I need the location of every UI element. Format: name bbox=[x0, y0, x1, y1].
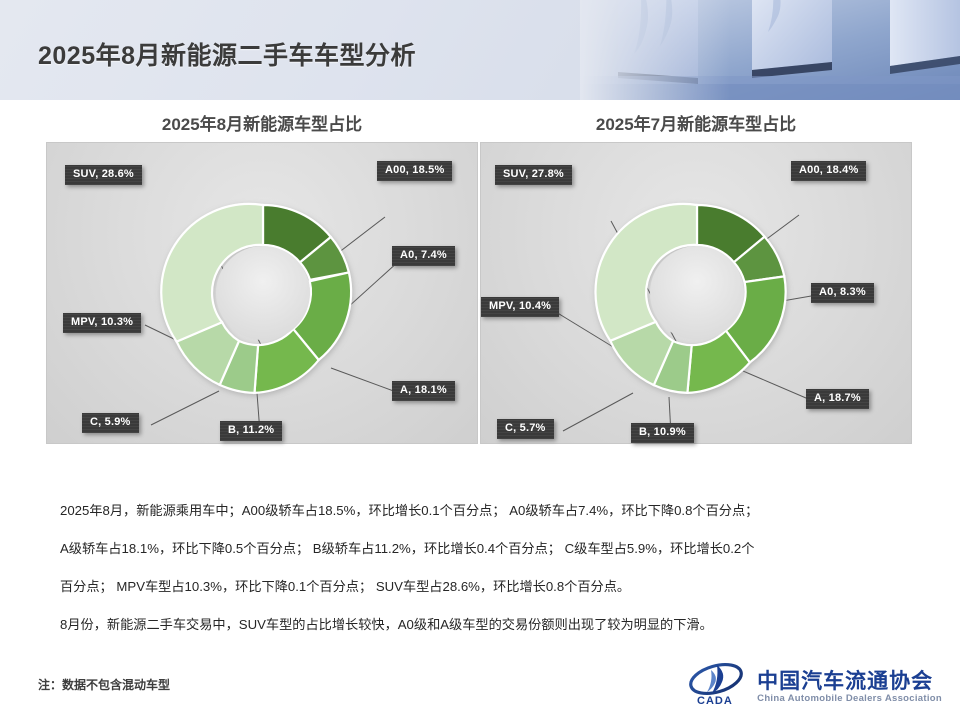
blue-cubes-globe-image bbox=[580, 0, 960, 100]
slice-label-mpv: MPV, 10.4% bbox=[481, 297, 559, 317]
cada-logo-icon: CADA bbox=[687, 662, 749, 713]
slice-label-b: B, 10.9% bbox=[631, 423, 694, 443]
slice-label-suv: SUV, 27.8% bbox=[495, 165, 572, 185]
slice-label-a00: A00, 18.5% bbox=[377, 161, 452, 181]
slice-label-a0: A0, 8.3% bbox=[811, 283, 874, 303]
slice-label-a0: A0, 7.4% bbox=[392, 246, 455, 266]
slice-label-b: B, 11.2% bbox=[220, 421, 282, 441]
chart-title-august: 2025年8月新能源车型占比 bbox=[46, 108, 478, 142]
header-art-fade bbox=[580, 0, 730, 100]
analysis-line-3: 百分点； MPV车型占10.3%，环比下降0.1个百分点； SUV车型占28.6… bbox=[60, 568, 920, 606]
analysis-line-4: 8月份，新能源二手车交易中，SUV车型的占比增长较快，A0级和A级车型的交易份额… bbox=[60, 606, 920, 644]
slice-label-a00: A00, 18.4% bbox=[791, 161, 866, 181]
slice-label-c: C, 5.9% bbox=[82, 413, 139, 433]
slice-label-c: C, 5.7% bbox=[497, 419, 554, 439]
footnote: 注：数据不包含混动车型 bbox=[38, 676, 170, 693]
analysis-line-2: A级轿车占18.1%，环比下降0.5个百分点； B级轿车占11.2%，环比增长0… bbox=[60, 530, 920, 568]
slice-label-a: A, 18.7% bbox=[806, 389, 869, 409]
cada-logo: CADA 中国汽车流通协会 China Automobile Dealers A… bbox=[687, 662, 942, 712]
slice-label-suv: SUV, 28.6% bbox=[65, 165, 142, 185]
analysis-text: 2025年8月，新能源乘用车中；A00级轿车占18.5%，环比增长0.1个百分点… bbox=[60, 492, 920, 644]
analysis-line-1: 2025年8月，新能源乘用车中；A00级轿车占18.5%，环比增长0.1个百分点… bbox=[60, 492, 920, 530]
slide: 2025年8月新能源二手车车型分析 2025年8月新能源车型占比 bbox=[0, 0, 960, 720]
svg-text:CADA: CADA bbox=[697, 695, 733, 707]
slice-label-a: A, 18.1% bbox=[392, 381, 455, 401]
cada-logo-cn: 中国汽车流通协会 bbox=[757, 671, 942, 693]
charts-section: 2025年8月新能源车型占比 bbox=[0, 108, 960, 478]
donut-chart-august: SUV, 28.6% A00, 18.5% A0, 7.4% A, 18.1% … bbox=[46, 142, 478, 444]
cada-logo-en: China Automobile Dealers Association bbox=[757, 693, 942, 704]
slide-header: 2025年8月新能源二手车车型分析 bbox=[0, 0, 960, 100]
chart-block-july: 2025年7月新能源车型占比 bbox=[480, 108, 912, 444]
chart-title-july: 2025年7月新能源车型占比 bbox=[480, 108, 912, 142]
page-title: 2025年8月新能源二手车车型分析 bbox=[38, 36, 416, 72]
donut-chart-july: SUV, 27.8% A00, 18.4% A0, 8.3% A, 18.7% … bbox=[480, 142, 912, 444]
chart-block-august: 2025年8月新能源车型占比 bbox=[46, 108, 478, 444]
slice-label-mpv: MPV, 10.3% bbox=[63, 313, 141, 333]
